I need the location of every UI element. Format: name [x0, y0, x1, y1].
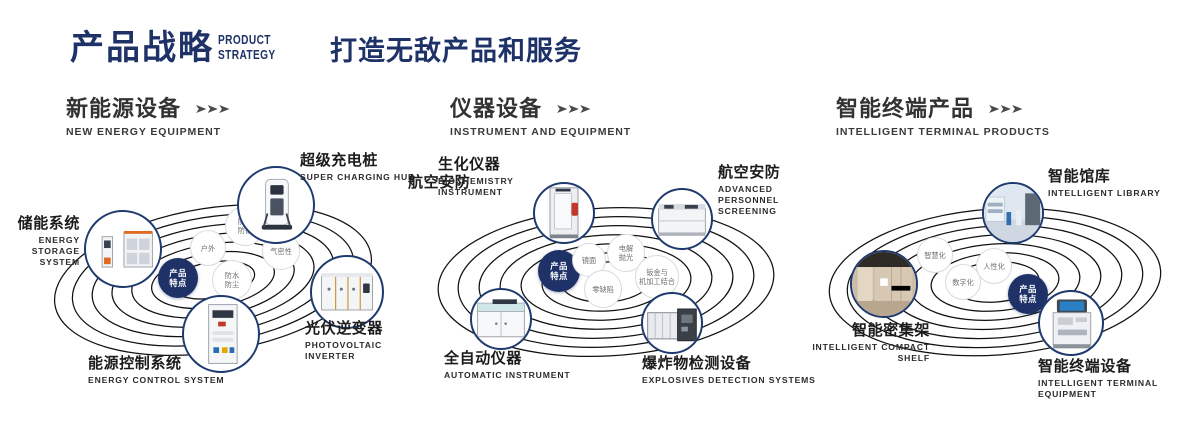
energy-storage-cabinet-icon — [86, 212, 160, 286]
node-pv-inverter[interactable] — [310, 255, 384, 329]
node-explosives-detection[interactable] — [641, 292, 703, 354]
compact-shelf-icon — [852, 252, 916, 316]
feature-bubble: 人性化 — [976, 248, 1012, 284]
node-label-terminal-equipment: 智能终端设备 INTELLIGENT TERMINAL EQUIPMENT — [1038, 358, 1200, 400]
chevron-triple-icon: ➤➤➤ — [194, 101, 229, 116]
section-heading-intelligent: 智能终端产品 ➤➤➤ INTELLIGENT TERMINAL PRODUCTS — [836, 96, 1050, 138]
page-title: 产品战略 — [70, 28, 214, 68]
section-heading-new-energy: 新能源设备 ➤➤➤ NEW ENERGY EQUIPMENT — [66, 96, 229, 138]
node-label-energy-storage: 储能系统 ENERGY STORAGE SYSTEM — [0, 215, 80, 268]
self-service-kiosk-icon — [1040, 292, 1102, 354]
page-title-en: PRODUCT STRATEGY — [218, 32, 276, 62]
feature-bubble: 零缺陷 — [584, 270, 622, 308]
node-label-energy-control: 能源控制系统 ENERGY CONTROL SYSTEM — [88, 355, 224, 386]
node-label-biochemistry-instrument: 生化仪器 BIOCHEMISTRY INSTRUMENT — [438, 156, 514, 198]
section-heading-instrument: 仪器设备 ➤➤➤ INSTRUMENT AND EQUIPMENT — [450, 96, 631, 138]
chevron-triple-icon: ➤➤➤ — [987, 101, 1022, 116]
pv-inverter-cabinet-icon — [312, 257, 382, 327]
feature-bubble: 智慧化 — [917, 237, 953, 273]
section-title-cn: 仪器设备 — [450, 96, 542, 122]
feature-bubble: 防水 防尘 — [212, 260, 252, 300]
node-biochemistry-instrument[interactable] — [533, 182, 595, 244]
diagram-intelligent-terminal: 智慧化 数字化 人性化 产品 特点 智能馆库 INTELLIGENT LIBRA… — [790, 150, 1200, 422]
diagram-new-energy: 产品 特点 户外 防腐 防锈 防水 防尘 气密性 储能系统 ENERGY STO… — [0, 150, 420, 422]
node-energy-storage[interactable] — [84, 210, 162, 288]
chevron-triple-icon: ➤➤➤ — [555, 101, 590, 116]
node-personnel-screening[interactable] — [651, 188, 713, 250]
screening-machine-icon — [653, 190, 711, 248]
diagram-instrument: 产品 特点 镜面 电解 抛光 零缺陷 钣金与 机加工结合 航空安防 生化仪器 B… — [398, 150, 818, 422]
page-header: 产品战略 PRODUCT STRATEGY 打造无敌产品和服务 — [0, 0, 1200, 92]
section-title-cn: 新能源设备 — [66, 96, 181, 122]
explosives-detector-icon — [643, 294, 701, 352]
node-automatic-instrument[interactable] — [470, 288, 532, 350]
feature-bubble: 户外 — [190, 230, 226, 266]
node-compact-shelf[interactable] — [850, 250, 918, 318]
section-title-en: INSTRUMENT AND EQUIPMENT — [450, 126, 631, 138]
section-title-en: NEW ENERGY EQUIPMENT — [66, 126, 229, 138]
automatic-analyzer-icon — [472, 290, 530, 348]
node-intelligent-library[interactable] — [982, 182, 1044, 244]
library-room-icon — [984, 184, 1042, 242]
node-label-intelligent-library: 智能馆库 INTELLIGENT LIBRARY — [1048, 168, 1161, 199]
node-terminal-equipment[interactable] — [1038, 290, 1104, 356]
core-bubble: 产品 特点 — [158, 258, 198, 298]
section-title-en: INTELLIGENT TERMINAL PRODUCTS — [836, 126, 1050, 138]
biochemistry-scanner-icon — [535, 184, 593, 242]
node-label-compact-shelf: 智能密集架 INTELLIGENT COMPACT SHELF — [790, 322, 930, 364]
section-title-cn: 智能终端产品 — [836, 96, 974, 122]
page-subtitle: 打造无敌产品和服务 — [330, 34, 582, 68]
node-label-automatic-instrument: 全自动仪器 AUTOMATIC INSTRUMENT — [444, 350, 570, 381]
